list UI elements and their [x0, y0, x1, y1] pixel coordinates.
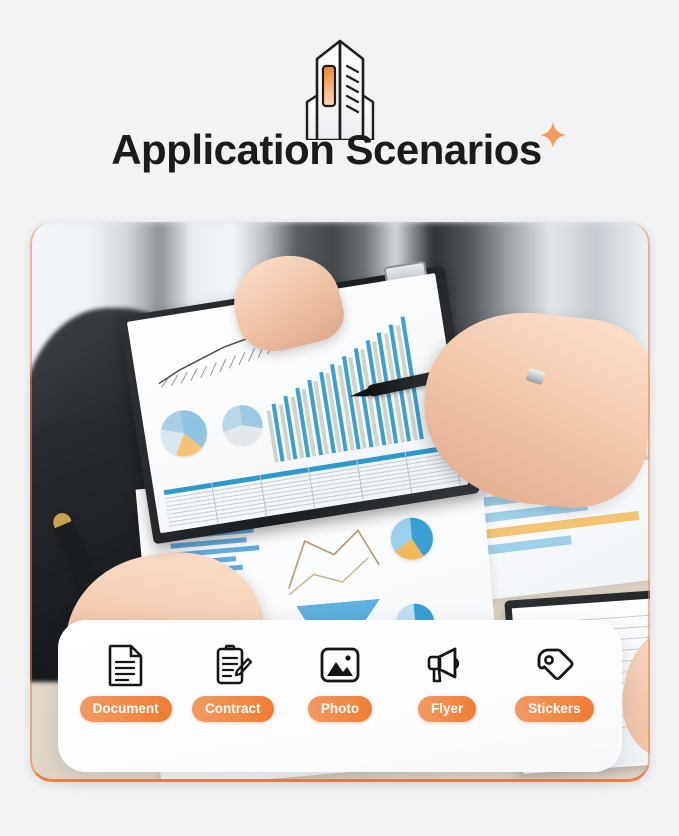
- badge-label-stickers[interactable]: Stickers: [515, 696, 594, 722]
- badge-label-photo[interactable]: Photo: [308, 696, 372, 722]
- badge-item-document[interactable]: Document: [74, 642, 178, 722]
- use-case-panel: Document Con: [58, 620, 622, 772]
- use-case-badge-row: Document Con: [58, 620, 622, 740]
- badge-item-flyer[interactable]: Flyer: [395, 642, 499, 722]
- header: Application Scenarios: [0, 0, 679, 215]
- contract-icon: [213, 642, 253, 688]
- page-root: Application Scenarios: [0, 0, 679, 836]
- report-pie-chart-1: [158, 407, 211, 460]
- doc-pie-chart-1: [389, 516, 435, 562]
- sparkle-icon: [538, 120, 568, 150]
- report-pie-chart-2: [220, 402, 266, 448]
- building-icon: [279, 36, 401, 140]
- title-row: Application Scenarios: [0, 128, 679, 172]
- photo-icon: [319, 642, 361, 688]
- badge-label-document[interactable]: Document: [80, 696, 172, 722]
- megaphone-icon: [425, 642, 469, 688]
- badge-label-flyer[interactable]: Flyer: [418, 696, 476, 722]
- badge-item-contract[interactable]: Contract: [181, 642, 285, 722]
- tag-icon: [533, 642, 575, 688]
- badge-item-photo[interactable]: Photo: [288, 642, 392, 722]
- badge-label-contract[interactable]: Contract: [192, 696, 274, 722]
- doc-line-chart: [280, 521, 386, 603]
- badge-item-stickers[interactable]: Stickers: [502, 642, 606, 722]
- document-icon: [107, 642, 145, 688]
- page-title: Application Scenarios: [111, 128, 542, 172]
